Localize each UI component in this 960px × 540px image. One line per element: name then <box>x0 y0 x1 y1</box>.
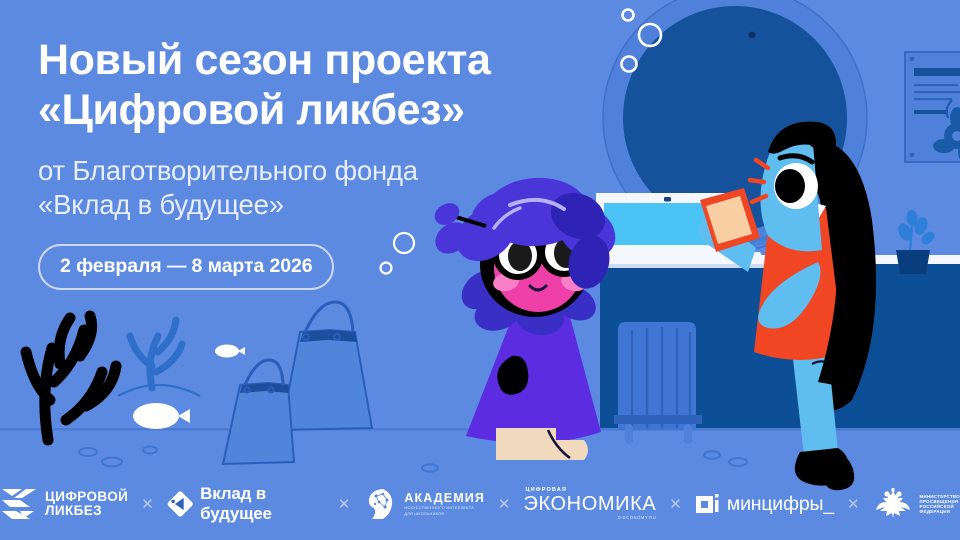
economy-sub: D-ECONOMY.RU <box>618 516 657 520</box>
radiator <box>614 322 702 444</box>
economy-main: ЭКОНОМИКА <box>524 494 657 514</box>
logo-cifrovoy-likbez[interactable]: ЦИФРОВОЙ ЛИКБЕЗ <box>0 487 128 521</box>
logo-vklad-v-budushchee[interactable]: Вклад в будущее <box>167 484 325 524</box>
chevron-arrows-logo-icon <box>0 487 38 521</box>
logo-ministerstvo-prosveshcheniya[interactable]: МИНИСТЕРСТВО ПРОСВЕЩЕНИЯ РОССИЙСКОЙ ФЕДЕ… <box>873 486 960 522</box>
logo-separator-3: ✕ <box>498 495 511 513</box>
likbez-line1: ЦИФРОВОЙ <box>45 490 128 504</box>
head-network-logo-icon <box>363 486 397 522</box>
academy-sub1: ИСКУССТВЕННОГО ИНТЕЛЛЕКТА <box>404 506 485 510</box>
double-headed-eagle-icon <box>873 486 913 522</box>
logo-separator-2: ✕ <box>338 495 351 513</box>
partner-logo-bar: ЦИФРОВОЙ ЛИКБЕЗ ✕ Вклад в будущее ✕ <box>0 468 960 540</box>
date-badge[interactable]: 2 февраля — 8 марта 2026 <box>38 244 334 290</box>
logo-separator: ✕ <box>141 495 154 513</box>
logo-cifrovaya-ekonomika[interactable]: ЦИФРОВАЯ ЭКОНОМИКА D-ECONOMY.RU <box>524 488 657 521</box>
logo-separator-5: ✕ <box>847 495 860 513</box>
wall-poster <box>905 52 960 163</box>
academy-sub2: ДЛЯ ШКОЛЬНИКОВ <box>404 512 485 516</box>
logo-mincifry[interactable]: минцифры_ <box>695 492 834 517</box>
mincifry-label: минцифры_ <box>727 493 834 516</box>
square-dot-logo-icon <box>695 492 720 517</box>
logo-separator-4: ✕ <box>669 495 682 513</box>
diamond-logo-icon <box>167 489 193 519</box>
likbez-line2: ЛИКБЕЗ <box>45 504 128 518</box>
academy-title: АКАДЕМИЯ <box>404 492 485 505</box>
ministry-line4: ФЕДЕРАЦИИ <box>920 509 960 514</box>
logo-akademiya[interactable]: АКАДЕМИЯ ИСКУССТВЕННОГО ИНТЕЛЛЕКТА ДЛЯ Ш… <box>363 486 485 522</box>
promo-banner: Новый сезон проекта «Цифровой ликбез» от… <box>0 0 960 540</box>
vklad-label: Вклад в будущее <box>200 484 325 524</box>
